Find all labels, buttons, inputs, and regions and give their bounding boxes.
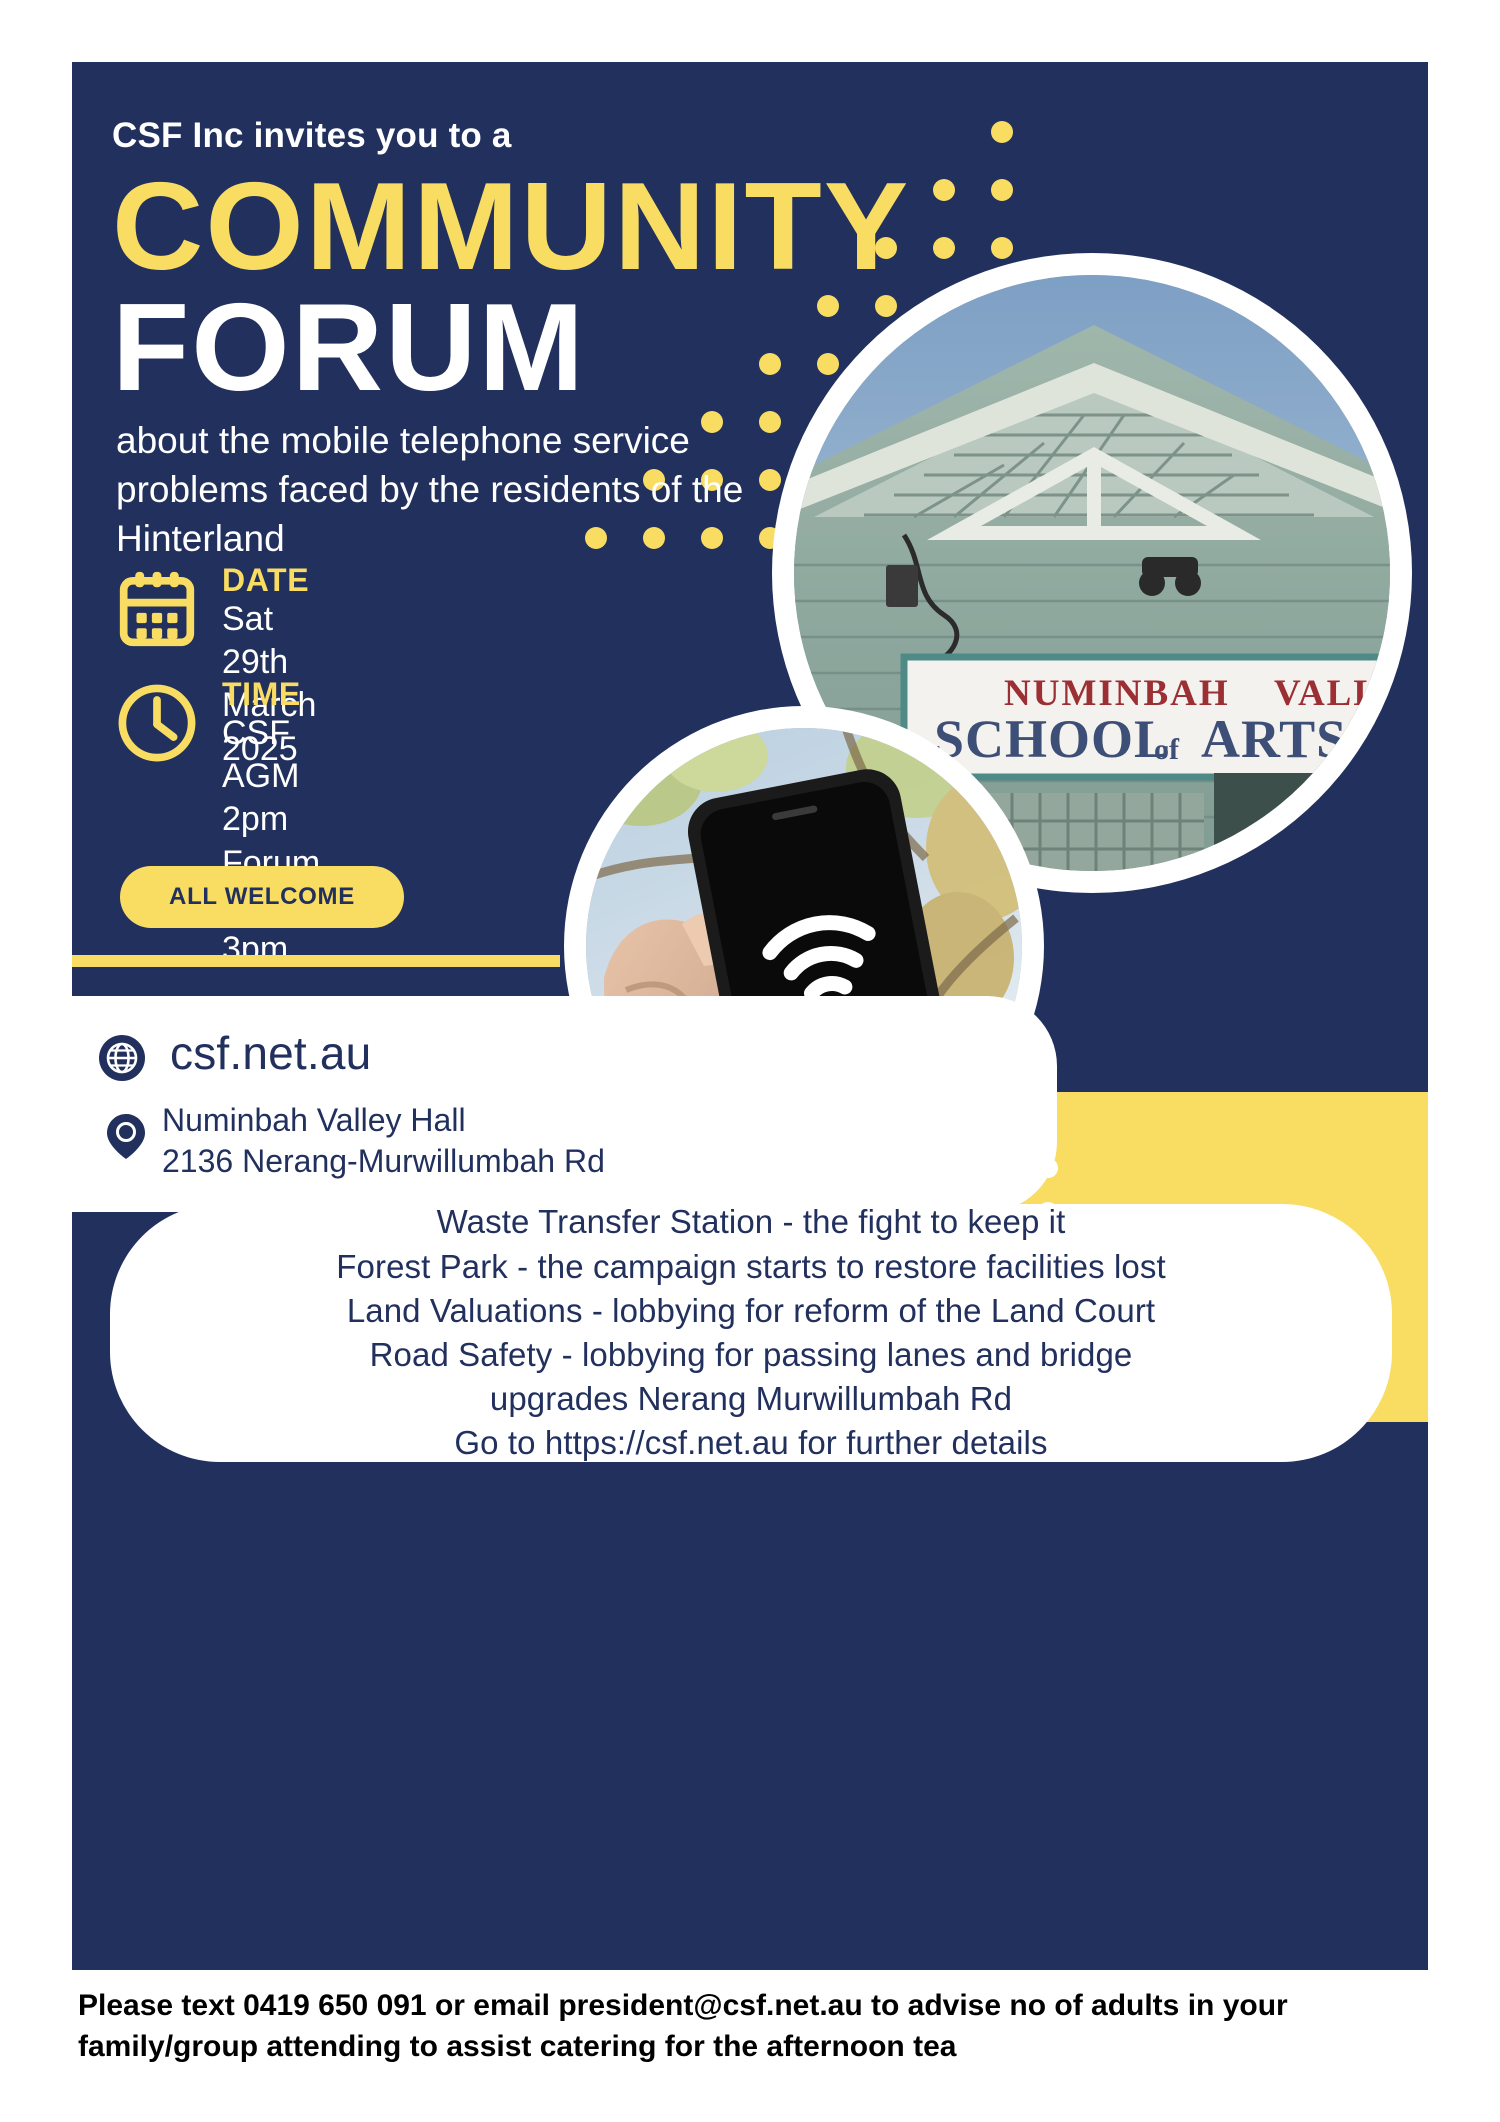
map-pin-icon (102, 1112, 150, 1160)
time-label: TIME (222, 676, 301, 713)
invitation-kicker: CSF Inc invites you to a (112, 116, 512, 156)
yellow-divider-rule (72, 955, 560, 967)
venue-address: Numinbah Valley Hall 2136 Nerang-Murwill… (162, 1100, 605, 1182)
all-welcome-badge: ALL WELCOME (120, 866, 404, 928)
agenda-panel: Waste Transfer Station - the fight to ke… (110, 1204, 1392, 1462)
date-label: DATE (222, 562, 309, 599)
website-link[interactable]: csf.net.au (170, 1026, 371, 1080)
clock-icon (116, 682, 198, 764)
poster-title-line-1: COMMUNITY (112, 165, 910, 289)
poster-subtitle: about the mobile telephone service probl… (116, 416, 756, 564)
poster-root: NUMINBAH VALLEY SCHOOL of ARTS (0, 0, 1500, 2122)
catering-footer-note: Please text 0419 650 091 or email presid… (78, 1985, 1418, 2068)
time-value: CSF AGM 2pm Forum Starts 3pm (222, 712, 320, 971)
agenda-text: Waste Transfer Station - the fight to ke… (336, 1200, 1165, 1465)
globe-icon (98, 1034, 146, 1082)
navy-background-panel: NUMINBAH VALLEY SCHOOL of ARTS (72, 62, 1428, 1970)
svg-text:NUMINBAH: NUMINBAH (1004, 673, 1230, 714)
svg-text:VALLEY: VALLEY (1274, 673, 1390, 714)
svg-text:ARTS: ARTS (1201, 709, 1347, 769)
svg-text:of: of (1154, 733, 1180, 766)
contact-info-band: csf.net.au Numinbah Valley Hall 2136 Ner… (72, 996, 1057, 1212)
poster-title-line-2: FORUM (112, 286, 586, 410)
calendar-icon (116, 568, 198, 650)
